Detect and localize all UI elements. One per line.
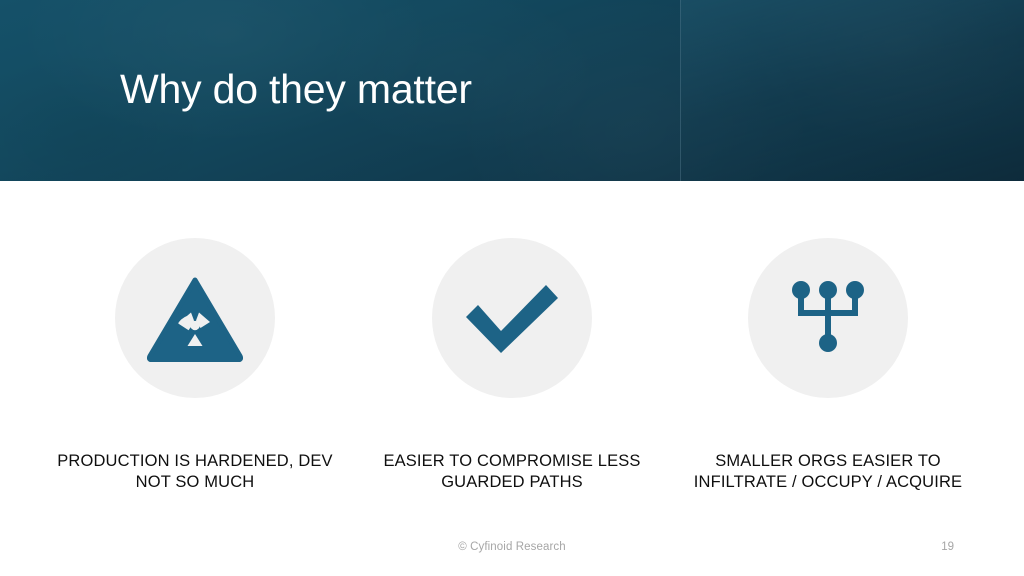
checkmark-icon: [460, 279, 564, 357]
column-caption-2: EASIER TO COMPROMISE LESS GUARDED PATHS: [354, 451, 670, 493]
header-right-accent-panel: [680, 0, 1024, 181]
content-column-3: SMALLER ORGS EASIER TO INFILTRATE / OCCU…: [670, 181, 986, 511]
content-column-2: EASIER TO COMPROMISE LESS GUARDED PATHS: [354, 181, 670, 511]
content-column-1: PRODUCTION IS HARDENED, DEV NOT SO MUCH: [37, 181, 353, 511]
page-title: Why do they matter: [120, 66, 472, 113]
slide-page-number: 19: [914, 541, 954, 553]
content-columns: PRODUCTION IS HARDENED, DEV NOT SO MUCH …: [0, 181, 1024, 576]
footer-copyright: © Cyfinoid Research: [0, 541, 1024, 553]
column-caption-1: PRODUCTION IS HARDENED, DEV NOT SO MUCH: [37, 451, 353, 493]
icon-circle-2: [432, 238, 592, 398]
icon-circle-1: [115, 238, 275, 398]
radiation-hazard-triangle-icon: [147, 274, 243, 362]
presentation-slide: Why do they matter: [0, 0, 1024, 576]
org-hierarchy-icon: [786, 276, 870, 360]
column-caption-3: SMALLER ORGS EASIER TO INFILTRATE / OCCU…: [670, 451, 986, 493]
icon-hierarchy-circle-3: [748, 238, 908, 398]
